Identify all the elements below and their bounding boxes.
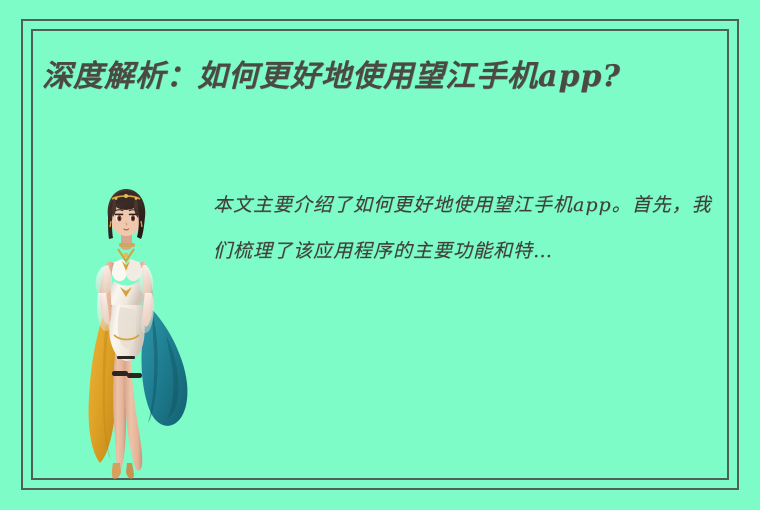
legs xyxy=(112,343,142,474)
article-card: 深度解析：如何更好地使用望江手机app? xyxy=(0,0,760,510)
white-bodysuit xyxy=(109,259,145,361)
anime-character-illustration xyxy=(58,175,208,480)
high-heel-shoes xyxy=(112,463,134,479)
choker xyxy=(119,243,135,247)
character-artwork xyxy=(58,175,208,480)
head xyxy=(108,189,146,239)
article-title: 深度解析：如何更好地使用望江手机app? xyxy=(42,54,732,100)
article-summary: 本文主要介绍了如何更好地使用望江手机app。首先，我们梳理了该应用程序的主要功能… xyxy=(213,182,713,274)
